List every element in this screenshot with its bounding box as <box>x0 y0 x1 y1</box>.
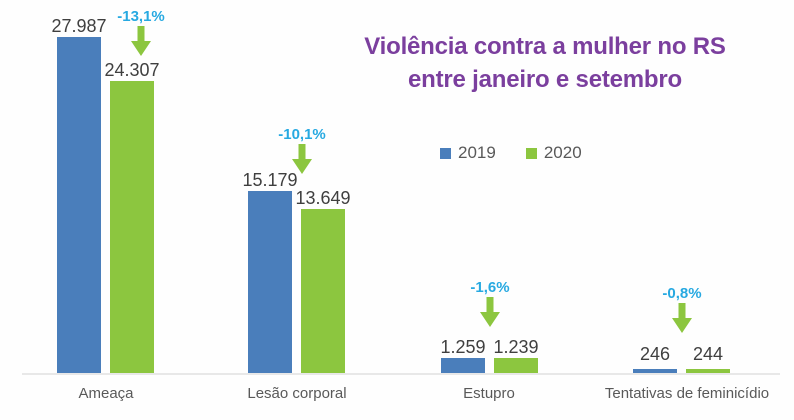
value-label-2020-ameaca: 24.307 <box>92 60 172 81</box>
down-arrow-ameaca <box>128 26 154 58</box>
change-label-tentativas-de-feminicidio: -0,8% <box>645 285 719 302</box>
bar-2020-lesao-corporal[interactable] <box>301 209 345 373</box>
value-label-2020-estupro: 1.239 <box>476 337 556 358</box>
bar-2019-ameaca[interactable] <box>57 37 101 373</box>
down-arrow-estupro <box>477 297 503 329</box>
bar-2019-tentativas-de-feminicidio[interactable] <box>633 369 677 373</box>
down-arrow-tentativas-de-feminicidio <box>669 303 695 335</box>
bar-2019-lesao-corporal[interactable] <box>248 191 292 373</box>
change-label-estupro: -1,6% <box>453 279 527 296</box>
change-label-ameaca: -13,1% <box>104 8 178 25</box>
value-label-2020-lesao-corporal: 13.649 <box>283 188 363 209</box>
down-arrow-lesao-corporal <box>289 144 315 176</box>
bar-2020-ameaca[interactable] <box>110 81 154 373</box>
x-axis-line <box>22 373 780 375</box>
bar-2019-estupro[interactable] <box>441 358 485 373</box>
chart-container: Violência contra a mulher no RS entre ja… <box>0 0 794 420</box>
category-label-tentativas-de-feminicidio: Tentativas de feminicídio <box>591 385 783 402</box>
category-label-ameaca: Ameaça <box>45 385 167 402</box>
plot-area: 27.987 24.307 -13,1% 15.179 13.649 -10,1… <box>0 0 794 420</box>
value-label-2020-tentativas-de-feminicidio: 244 <box>668 344 748 365</box>
change-label-lesao-corporal: -10,1% <box>265 126 339 143</box>
bar-2020-estupro[interactable] <box>494 358 538 373</box>
category-label-estupro: Estupro <box>428 385 550 402</box>
category-label-lesao-corporal: Lesão corporal <box>236 385 358 402</box>
bar-2020-tentativas-de-feminicidio[interactable] <box>686 369 730 373</box>
